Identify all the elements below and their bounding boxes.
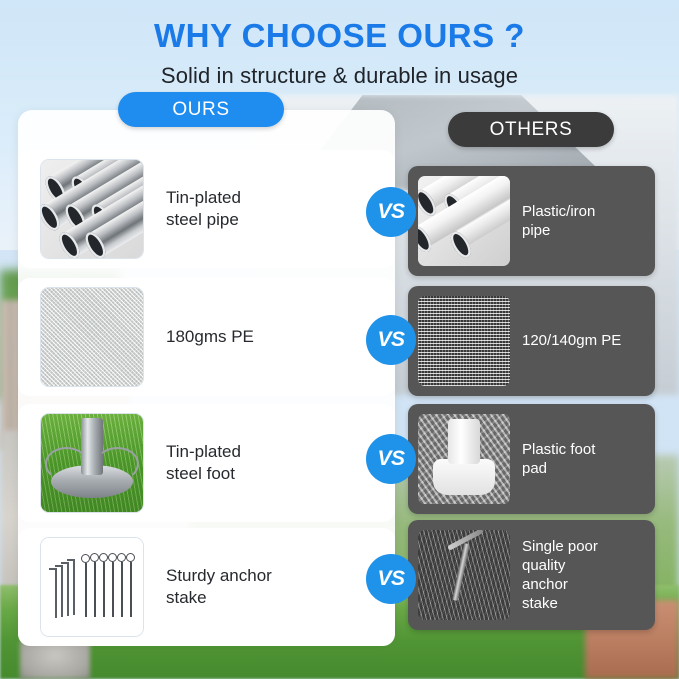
steel-foot-wire-right: [96, 447, 139, 480]
vs-badge-3: VS: [366, 434, 416, 484]
others-label-3: Plastic foot pad: [522, 440, 595, 478]
badge-ours: OURS: [118, 92, 284, 127]
vs-badge-4: VS: [366, 554, 416, 604]
vs-label-3: VS: [377, 447, 404, 471]
header: WHY CHOOSE OURS ? Solid in structure & d…: [0, 0, 679, 89]
ours-row-1: Tin-plated steel pipe: [18, 150, 395, 268]
badge-others-label: OTHERS: [490, 119, 573, 141]
others-label-1: Plastic/iron pipe: [522, 202, 595, 240]
vs-badge-1: VS: [366, 187, 416, 237]
others-row-3: Plastic foot pad: [408, 404, 655, 514]
vs-badge-2: VS: [366, 315, 416, 365]
vs-label-1: VS: [377, 200, 404, 224]
anchor-stakes-art: [41, 538, 143, 636]
ours-label-4: Sturdy anchor stake: [166, 565, 272, 610]
plastic-pipes-art: [418, 176, 510, 266]
plastic-foot-pad-art: [418, 414, 510, 504]
others-row-4: Single poor quality anchor stake: [408, 520, 655, 630]
single-stake-shaft: [453, 543, 471, 601]
vs-label-2: VS: [377, 328, 404, 352]
badge-others: OTHERS: [448, 112, 614, 147]
vs-label-4: VS: [377, 567, 404, 591]
plastic-foot-pad-image: [418, 414, 510, 504]
foot-pad-neck: [448, 419, 479, 464]
coarse-mesh-art: [418, 296, 510, 386]
ours-label-3: Tin-plated steel foot: [166, 441, 241, 486]
page-title: WHY CHOOSE OURS ?: [0, 17, 679, 55]
ours-row-2: 180gms PE: [18, 278, 395, 396]
steel-pipes-bundle-image: [40, 159, 144, 259]
single-stake-image: [418, 530, 510, 620]
plastic-pipes-image: [418, 176, 510, 266]
ours-row-3: Tin-plated steel foot: [18, 404, 395, 522]
steel-foot-art: [41, 414, 143, 512]
steel-pipes-art: [41, 160, 143, 258]
infographic-canvas: WHY CHOOSE OURS ? Solid in structure & d…: [0, 0, 679, 679]
steel-foot-wire-left: [45, 447, 88, 480]
ours-label-1: Tin-plated steel pipe: [166, 187, 241, 232]
others-row-1: Plastic/iron pipe: [408, 166, 655, 276]
badge-ours-label: OURS: [172, 99, 229, 121]
others-label-4: Single poor quality anchor stake: [522, 537, 598, 614]
others-label-2: 120/140gm PE: [522, 331, 621, 350]
pe-fabric-art: [41, 288, 143, 386]
ours-row-4: Sturdy anchor stake: [18, 528, 395, 646]
pe-fabric-swatch-image: [40, 287, 144, 387]
page-subtitle: Solid in structure & durable in usage: [0, 63, 679, 89]
steel-foot-image: [40, 413, 144, 513]
single-stake-art: [418, 530, 510, 620]
coarse-mesh-image: [418, 296, 510, 386]
foot-pad-base: [433, 459, 496, 495]
ours-label-2: 180gms PE: [166, 326, 254, 348]
others-row-2: 120/140gm PE: [408, 286, 655, 396]
anchor-stakes-image: [40, 537, 144, 637]
